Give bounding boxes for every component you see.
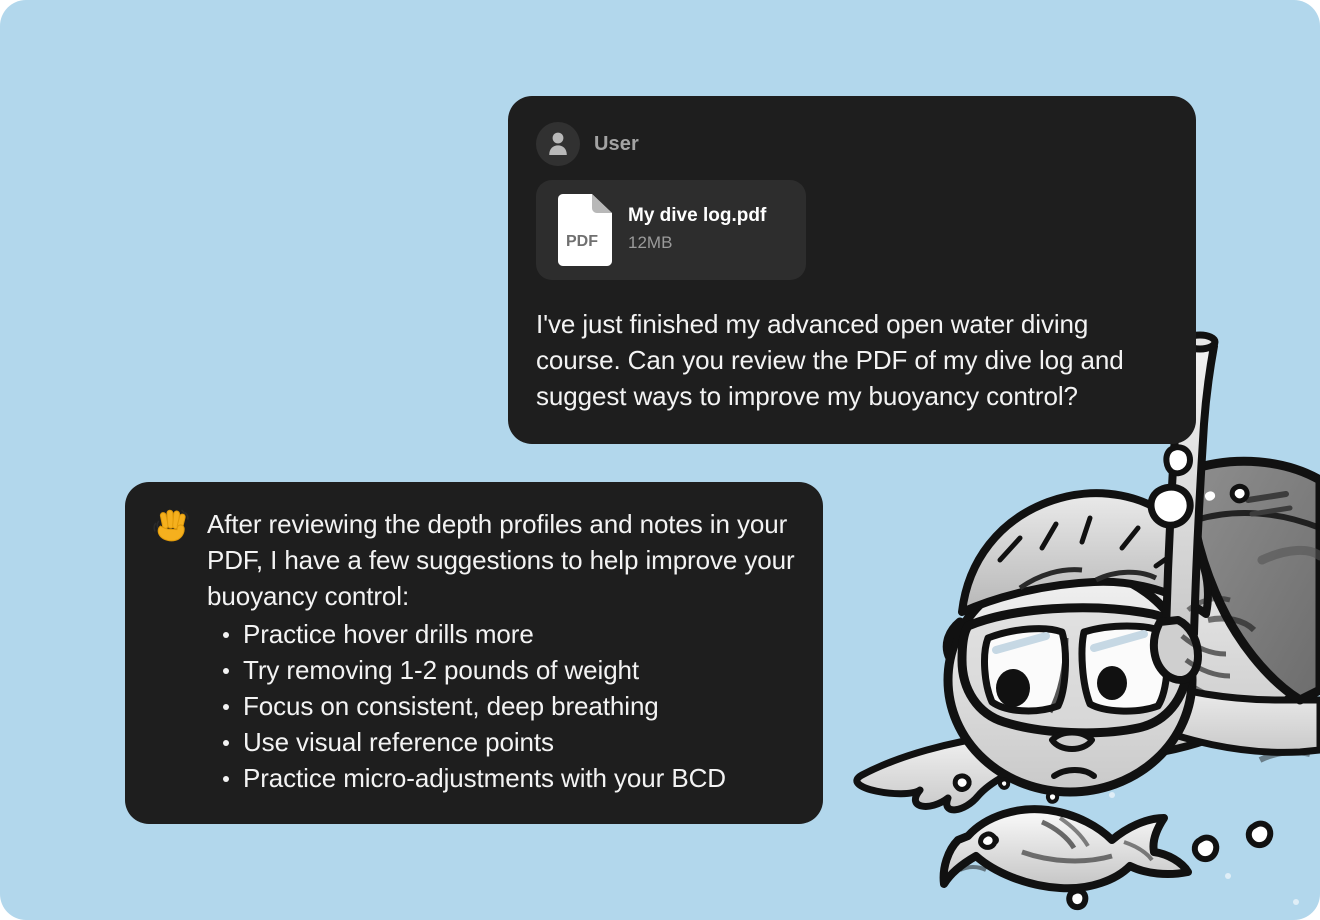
air-bubbles <box>955 387 1299 907</box>
pdf-file-icon: PDF <box>554 194 612 266</box>
assistant-message-bubble: After reviewing the depth profiles and n… <box>125 482 823 824</box>
pdf-icon-label: PDF <box>566 233 598 250</box>
file-attachment-card[interactable]: PDF My dive log.pdf 12MB <box>536 180 806 280</box>
avatar <box>536 122 580 166</box>
fish-illustration <box>944 809 1188 888</box>
file-name-label: My dive log.pdf <box>628 205 766 228</box>
user-name-label: User <box>594 133 639 156</box>
suggestion-list: Practice hover drills more Try removing … <box>207 616 797 796</box>
user-message-text: I've just finished my advanced open wate… <box>536 306 1168 414</box>
list-item: Focus on consistent, deep breathing <box>207 688 797 724</box>
assistant-message-body: After reviewing the depth profiles and n… <box>151 506 797 796</box>
list-item: Practice hover drills more <box>207 616 797 652</box>
user-message-header: User <box>536 122 1168 166</box>
list-item: Practice micro-adjustments with your BCD <box>207 760 797 796</box>
waving-hand-emoji <box>151 506 197 796</box>
person-icon <box>546 131 570 157</box>
user-message-bubble: User PDF My dive log.pdf 12MB I've just … <box>508 96 1196 444</box>
page-canvas: User PDF My dive log.pdf 12MB I've just … <box>0 0 1320 920</box>
list-item: Try removing 1-2 pounds of weight <box>207 652 797 688</box>
file-size-label: 12MB <box>628 230 766 256</box>
assistant-intro-text: After reviewing the depth profiles and n… <box>207 506 797 614</box>
list-item: Use visual reference points <box>207 724 797 760</box>
file-meta: My dive log.pdf 12MB <box>628 205 766 255</box>
assistant-message-content: After reviewing the depth profiles and n… <box>207 506 797 796</box>
